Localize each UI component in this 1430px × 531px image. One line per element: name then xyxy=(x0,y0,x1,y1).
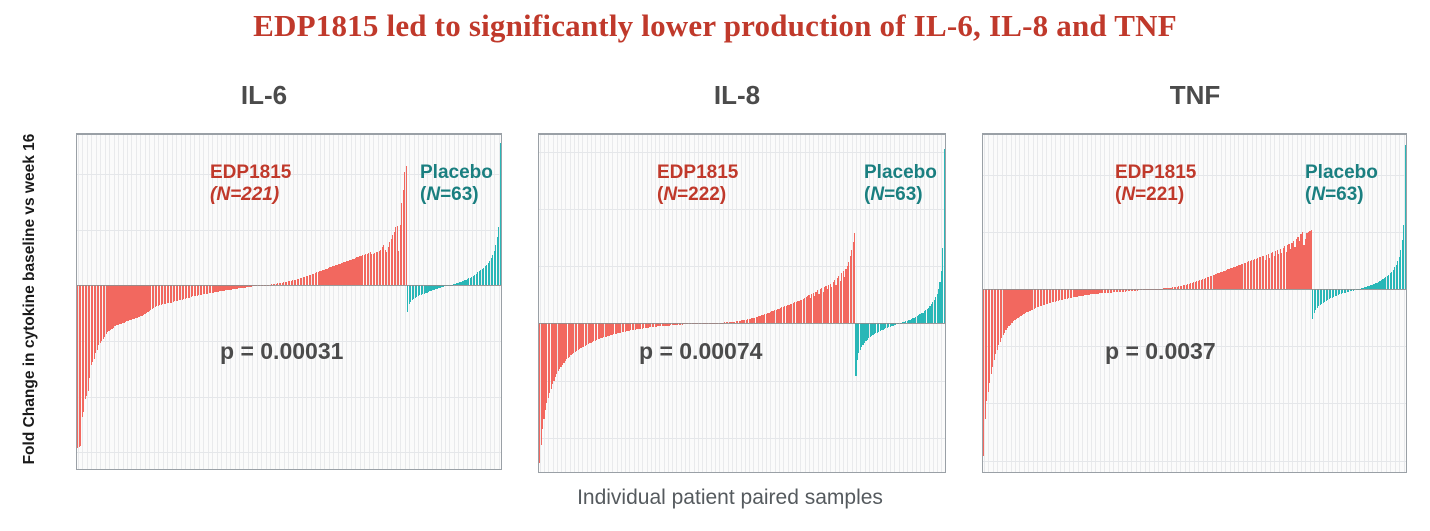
legend-placebo-name-il8: Placebo xyxy=(864,162,937,184)
vertical-gridline xyxy=(591,135,592,472)
vertical-gridline xyxy=(1225,135,1226,472)
vertical-gridline xyxy=(1297,135,1298,472)
vertical-gridline xyxy=(293,135,294,469)
legend-placebo-name-tnf: Placebo xyxy=(1305,162,1378,184)
vertical-gridline xyxy=(1252,135,1253,472)
vertical-gridline xyxy=(181,135,182,469)
vertical-gridline xyxy=(1292,135,1293,472)
vertical-gridline xyxy=(1288,135,1289,472)
y-tick-mark xyxy=(538,267,539,268)
y-tick-mark xyxy=(76,453,77,454)
legend-edp1815-n-il6: (N=221) xyxy=(210,184,291,206)
legend-edp1815-name-tnf: EDP1815 xyxy=(1115,162,1196,184)
vertical-gridline xyxy=(779,135,780,472)
vertical-gridline xyxy=(1238,135,1239,472)
vertical-gridline xyxy=(315,135,316,469)
vertical-gridline xyxy=(783,135,784,472)
vertical-gridline xyxy=(311,135,312,469)
vertical-gridline xyxy=(185,135,186,469)
vertical-gridline xyxy=(582,135,583,472)
vertical-gridline xyxy=(1221,135,1222,472)
chart-panel-tnf: TNF 1050-5-10-15 EDP1815 (N=221) Placebo… xyxy=(960,80,1430,480)
y-tick-mark xyxy=(76,286,77,287)
vertical-gridline xyxy=(414,135,415,469)
vertical-gridline xyxy=(570,135,571,472)
bar xyxy=(500,143,501,286)
vertical-gridline xyxy=(856,135,857,472)
legend-placebo-n-tnf: (N=63) xyxy=(1305,184,1378,206)
pvalue-il8: p = 0.00074 xyxy=(639,338,762,365)
vertical-gridline xyxy=(378,135,379,469)
vertical-gridline xyxy=(553,135,554,472)
chart-panel-il6: IL-6 1050-5-10-15 EDP1815 (N=221) Placeb… xyxy=(14,80,514,480)
horizontal-gridline xyxy=(539,152,945,153)
x-axis-label: Individual patient paired samples xyxy=(430,486,1030,510)
vertical-gridline xyxy=(600,135,601,472)
vertical-gridline xyxy=(494,135,495,469)
vertical-gridline xyxy=(176,135,177,469)
vertical-gridline xyxy=(1207,135,1208,472)
pvalue-tnf: p = 0.0037 xyxy=(1105,338,1216,365)
vertical-gridline xyxy=(396,135,397,469)
vertical-gridline xyxy=(1198,135,1199,472)
vertical-gridline xyxy=(346,135,347,469)
slide-title: EDP1815 led to significantly lower produ… xyxy=(0,8,1430,44)
y-tick-mark xyxy=(982,347,983,348)
vertical-gridline xyxy=(775,135,776,472)
vertical-gridline xyxy=(548,135,549,472)
bar xyxy=(406,166,407,285)
vertical-gridline xyxy=(621,135,622,472)
vertical-gridline xyxy=(1216,135,1217,472)
legend-placebo-il8: Placebo (N=63) xyxy=(864,162,937,207)
legend-placebo-il6: Placebo (N=63) xyxy=(420,162,493,207)
vertical-gridline xyxy=(762,135,763,472)
vertical-gridline xyxy=(612,135,613,472)
vertical-gridline xyxy=(587,135,588,472)
vertical-gridline xyxy=(190,135,191,469)
horizontal-gridline xyxy=(539,438,945,439)
vertical-gridline xyxy=(604,135,605,472)
legend-edp1815-n-tnf: (N=221) xyxy=(1115,184,1196,206)
vertical-gridline xyxy=(860,135,861,472)
vertical-gridline xyxy=(1078,135,1079,472)
y-tick-mark xyxy=(76,397,77,398)
chart-panel-il8: IL-8 151050-5-10 EDP1815 (N=222) Placebo… xyxy=(514,80,960,480)
horizontal-gridline xyxy=(539,266,945,267)
bar xyxy=(1405,145,1406,289)
legend-placebo-tnf: Placebo (N=63) xyxy=(1305,162,1378,207)
vertical-gridline xyxy=(1212,135,1213,472)
vertical-gridline xyxy=(655,135,656,472)
vertical-gridline xyxy=(1203,135,1204,472)
legend-edp1815-il8: EDP1815 (N=222) xyxy=(657,162,738,207)
vertical-gridline xyxy=(1301,135,1302,472)
vertical-gridline xyxy=(338,135,339,469)
horizontal-gridline xyxy=(77,452,501,453)
bar xyxy=(944,149,945,324)
horizontal-gridline xyxy=(539,381,945,382)
vertical-gridline xyxy=(208,135,209,469)
y-tick-mark xyxy=(538,210,539,211)
vertical-gridline xyxy=(544,135,545,472)
vertical-gridline xyxy=(1270,135,1271,472)
vertical-gridline xyxy=(302,135,303,469)
x-tick-marks xyxy=(77,469,501,470)
vertical-gridline xyxy=(320,135,321,469)
vertical-gridline xyxy=(1274,135,1275,472)
vertical-gridline xyxy=(1386,135,1387,472)
vertical-gridline xyxy=(324,135,325,469)
legend-edp1815-name-il6: EDP1815 xyxy=(210,162,291,184)
vertical-gridline xyxy=(557,135,558,472)
y-tick-mark xyxy=(538,438,539,439)
horizontal-gridline xyxy=(983,232,1406,233)
y-tick-mark xyxy=(538,153,539,154)
vertical-gridline xyxy=(203,135,204,469)
y-tick-mark xyxy=(538,381,539,382)
y-tick-mark xyxy=(982,233,983,234)
y-tick-mark xyxy=(76,230,77,231)
vertical-gridline xyxy=(753,135,754,472)
vertical-gridline xyxy=(297,135,298,469)
vertical-gridline xyxy=(1091,135,1092,472)
y-tick-mark xyxy=(76,341,77,342)
vertical-gridline xyxy=(1283,135,1284,472)
vertical-gridline xyxy=(1247,135,1248,472)
vertical-gridline xyxy=(634,135,635,472)
panel-title-il6: IL-6 xyxy=(14,80,514,111)
vertical-gridline xyxy=(391,135,392,469)
horizontal-gridline xyxy=(77,230,501,231)
vertical-gridline xyxy=(638,135,639,472)
vertical-gridline xyxy=(758,135,759,472)
vertical-gridline xyxy=(770,135,771,472)
vertical-gridline xyxy=(1073,135,1074,472)
vertical-gridline xyxy=(1256,135,1257,472)
horizontal-gridline xyxy=(983,403,1406,404)
vertical-gridline xyxy=(306,135,307,469)
y-tick-mark xyxy=(982,290,983,291)
vertical-gridline xyxy=(1060,135,1061,472)
vertical-gridline xyxy=(355,135,356,469)
vertical-gridline xyxy=(1104,135,1105,472)
vertical-gridline xyxy=(373,135,374,469)
vertical-gridline xyxy=(565,135,566,472)
vertical-gridline xyxy=(1087,135,1088,472)
vertical-gridline xyxy=(629,135,630,472)
vertical-gridline xyxy=(1390,135,1391,472)
vertical-gridline xyxy=(360,135,361,469)
vertical-gridline xyxy=(333,135,334,469)
bar xyxy=(854,233,855,323)
zero-baseline xyxy=(539,323,945,324)
panel-title-il8: IL-8 xyxy=(514,80,960,111)
vertical-gridline xyxy=(642,135,643,472)
vertical-gridline xyxy=(1082,135,1083,472)
y-tick-mark xyxy=(982,404,983,405)
vertical-gridline xyxy=(741,135,742,472)
vertical-gridline xyxy=(625,135,626,472)
vertical-gridline xyxy=(194,135,195,469)
x-tick-marks xyxy=(539,472,945,473)
vertical-gridline xyxy=(766,135,767,472)
vertical-gridline xyxy=(647,135,648,472)
legend-edp1815-il6: EDP1815 (N=221) xyxy=(210,162,291,207)
legend-placebo-name-il6: Placebo xyxy=(420,162,493,184)
vertical-gridline xyxy=(199,135,200,469)
vertical-gridline xyxy=(578,135,579,472)
vertical-gridline xyxy=(617,135,618,472)
vertical-gridline xyxy=(1100,135,1101,472)
vertical-gridline xyxy=(342,135,343,469)
vertical-gridline xyxy=(1261,135,1262,472)
vertical-gridline xyxy=(1265,135,1266,472)
vertical-gridline xyxy=(1109,135,1110,472)
vertical-gridline xyxy=(1395,135,1396,472)
vertical-gridline xyxy=(1095,135,1096,472)
vertical-gridline xyxy=(1051,135,1052,472)
zero-baseline xyxy=(983,289,1406,290)
vertical-gridline xyxy=(329,135,330,469)
horizontal-gridline xyxy=(983,461,1406,462)
vertical-gridline xyxy=(745,135,746,472)
vertical-gridline xyxy=(369,135,370,469)
vertical-gridline xyxy=(418,135,419,469)
vertical-gridline xyxy=(382,135,383,469)
y-tick-mark xyxy=(538,324,539,325)
y-tick-mark xyxy=(76,174,77,175)
vertical-gridline xyxy=(651,135,652,472)
vertical-gridline xyxy=(1399,135,1400,472)
pvalue-il6: p = 0.00031 xyxy=(220,338,343,365)
legend-edp1815-name-il8: EDP1815 xyxy=(657,162,738,184)
vertical-gridline xyxy=(1234,135,1235,472)
vertical-gridline xyxy=(364,135,365,469)
vertical-gridline xyxy=(387,135,388,469)
x-tick-marks xyxy=(983,472,1406,473)
vertical-gridline xyxy=(1069,135,1070,472)
vertical-gridline xyxy=(608,135,609,472)
vertical-gridline xyxy=(749,135,750,472)
y-tick-mark xyxy=(982,461,983,462)
bar xyxy=(1311,230,1312,289)
horizontal-gridline xyxy=(77,397,501,398)
legend-placebo-n-il6: (N=63) xyxy=(420,184,493,206)
zero-baseline xyxy=(77,285,501,286)
vertical-gridline xyxy=(788,135,789,472)
vertical-gridline xyxy=(595,135,596,472)
vertical-gridline xyxy=(1230,135,1231,472)
vertical-gridline xyxy=(1381,135,1382,472)
vertical-gridline xyxy=(1279,135,1280,472)
vertical-gridline xyxy=(574,135,575,472)
horizontal-gridline xyxy=(539,209,945,210)
y-tick-mark xyxy=(982,175,983,176)
vertical-gridline xyxy=(400,135,401,469)
vertical-gridline xyxy=(1064,135,1065,472)
legend-edp1815-tnf: EDP1815 (N=221) xyxy=(1115,162,1196,207)
vertical-gridline xyxy=(351,135,352,469)
panel-title-tnf: TNF xyxy=(960,80,1430,111)
legend-edp1815-n-il8: (N=222) xyxy=(657,184,738,206)
vertical-gridline xyxy=(1055,135,1056,472)
vertical-gridline xyxy=(561,135,562,472)
vertical-gridline xyxy=(1243,135,1244,472)
legend-placebo-n-il8: (N=63) xyxy=(864,184,937,206)
